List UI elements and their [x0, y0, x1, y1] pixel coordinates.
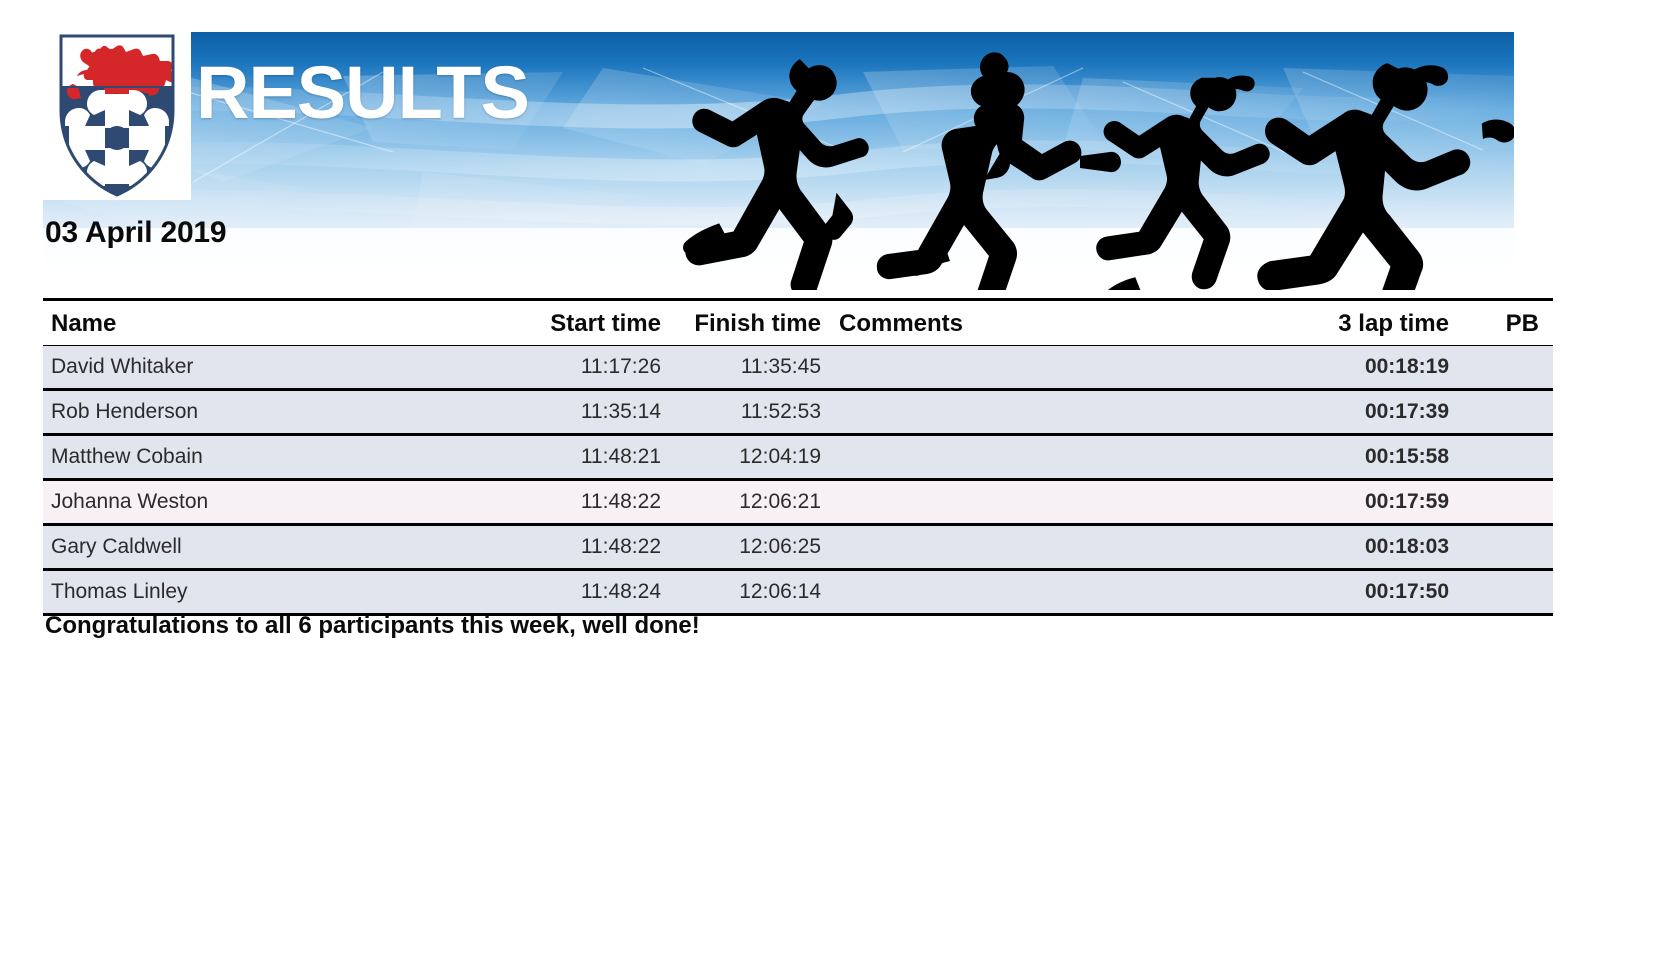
cell-lap-time: 00:15:58 [1219, 435, 1449, 480]
column-header-finish-time[interactable]: Finish time [661, 300, 821, 346]
cell-name: Thomas Linley [43, 570, 481, 615]
cell-name: Rob Henderson [43, 390, 481, 435]
results-page: RESULTS 03 April 2019 Name Start time Fi… [0, 0, 1654, 968]
column-header-start-time[interactable]: Start time [481, 300, 661, 346]
cell-start-time: 11:48:22 [481, 525, 661, 570]
cell-comments [821, 570, 1219, 615]
crest-shield-graphic [43, 32, 191, 200]
cell-comments [821, 346, 1219, 390]
banner-title: RESULTS [196, 56, 529, 130]
cell-start-time: 11:17:26 [481, 346, 661, 390]
cell-pb [1449, 525, 1553, 570]
cell-start-time: 11:48:21 [481, 435, 661, 480]
cell-pb [1449, 435, 1553, 480]
cell-pb [1449, 346, 1553, 390]
table-row[interactable]: Johanna Weston 11:48:22 12:06:21 00:17:5… [43, 480, 1553, 525]
cell-comments [821, 480, 1219, 525]
cell-lap-time: 00:17:50 [1219, 570, 1449, 615]
cell-finish-time: 12:04:19 [661, 435, 821, 480]
cell-finish-time: 12:06:21 [661, 480, 821, 525]
cell-pb [1449, 570, 1553, 615]
congratulations-note: Congratulations to all 6 participants th… [45, 612, 700, 640]
cell-start-time: 11:48:22 [481, 480, 661, 525]
cell-lap-time: 00:17:59 [1219, 480, 1449, 525]
column-header-name[interactable]: Name [43, 300, 481, 346]
cell-finish-time: 11:35:45 [661, 346, 821, 390]
header-row: Name Start time Finish time Comments 3 l… [43, 300, 1553, 346]
cell-comments [821, 435, 1219, 480]
results-table: Name Start time Finish time Comments 3 l… [43, 298, 1553, 616]
cell-start-time: 11:35:14 [481, 390, 661, 435]
cell-name: Johanna Weston [43, 480, 481, 525]
event-date: 03 April 2019 [45, 216, 226, 250]
column-header-pb[interactable]: PB [1449, 300, 1553, 346]
table-row[interactable]: Thomas Linley 11:48:24 12:06:14 00:17:50 [43, 570, 1553, 615]
cell-name: David Whitaker [43, 346, 481, 390]
cell-comments [821, 525, 1219, 570]
column-header-lap-time[interactable]: 3 lap time [1219, 300, 1449, 346]
header-banner: RESULTS [43, 32, 1514, 290]
results-table-body: David Whitaker 11:17:26 11:35:45 00:18:1… [43, 346, 1553, 615]
cell-finish-time: 12:06:14 [661, 570, 821, 615]
cell-pb [1449, 390, 1553, 435]
cell-name: Gary Caldwell [43, 525, 481, 570]
university-crest-icon [43, 32, 191, 200]
cell-lap-time: 00:17:39 [1219, 390, 1449, 435]
column-header-comments[interactable]: Comments [821, 300, 1219, 346]
cell-finish-time: 11:52:53 [661, 390, 821, 435]
table-row[interactable]: Gary Caldwell 11:48:22 12:06:25 00:18:03 [43, 525, 1553, 570]
cell-lap-time: 00:18:03 [1219, 525, 1449, 570]
table-row[interactable]: Rob Henderson 11:35:14 11:52:53 00:17:39 [43, 390, 1553, 435]
results-table-header: Name Start time Finish time Comments 3 l… [43, 300, 1553, 346]
cell-comments [821, 390, 1219, 435]
cell-pb [1449, 480, 1553, 525]
table-row[interactable]: David Whitaker 11:17:26 11:35:45 00:18:1… [43, 346, 1553, 390]
cell-lap-time: 00:18:19 [1219, 346, 1449, 390]
cell-finish-time: 12:06:25 [661, 525, 821, 570]
cell-name: Matthew Cobain [43, 435, 481, 480]
table-row[interactable]: Matthew Cobain 11:48:21 12:04:19 00:15:5… [43, 435, 1553, 480]
cell-start-time: 11:48:24 [481, 570, 661, 615]
